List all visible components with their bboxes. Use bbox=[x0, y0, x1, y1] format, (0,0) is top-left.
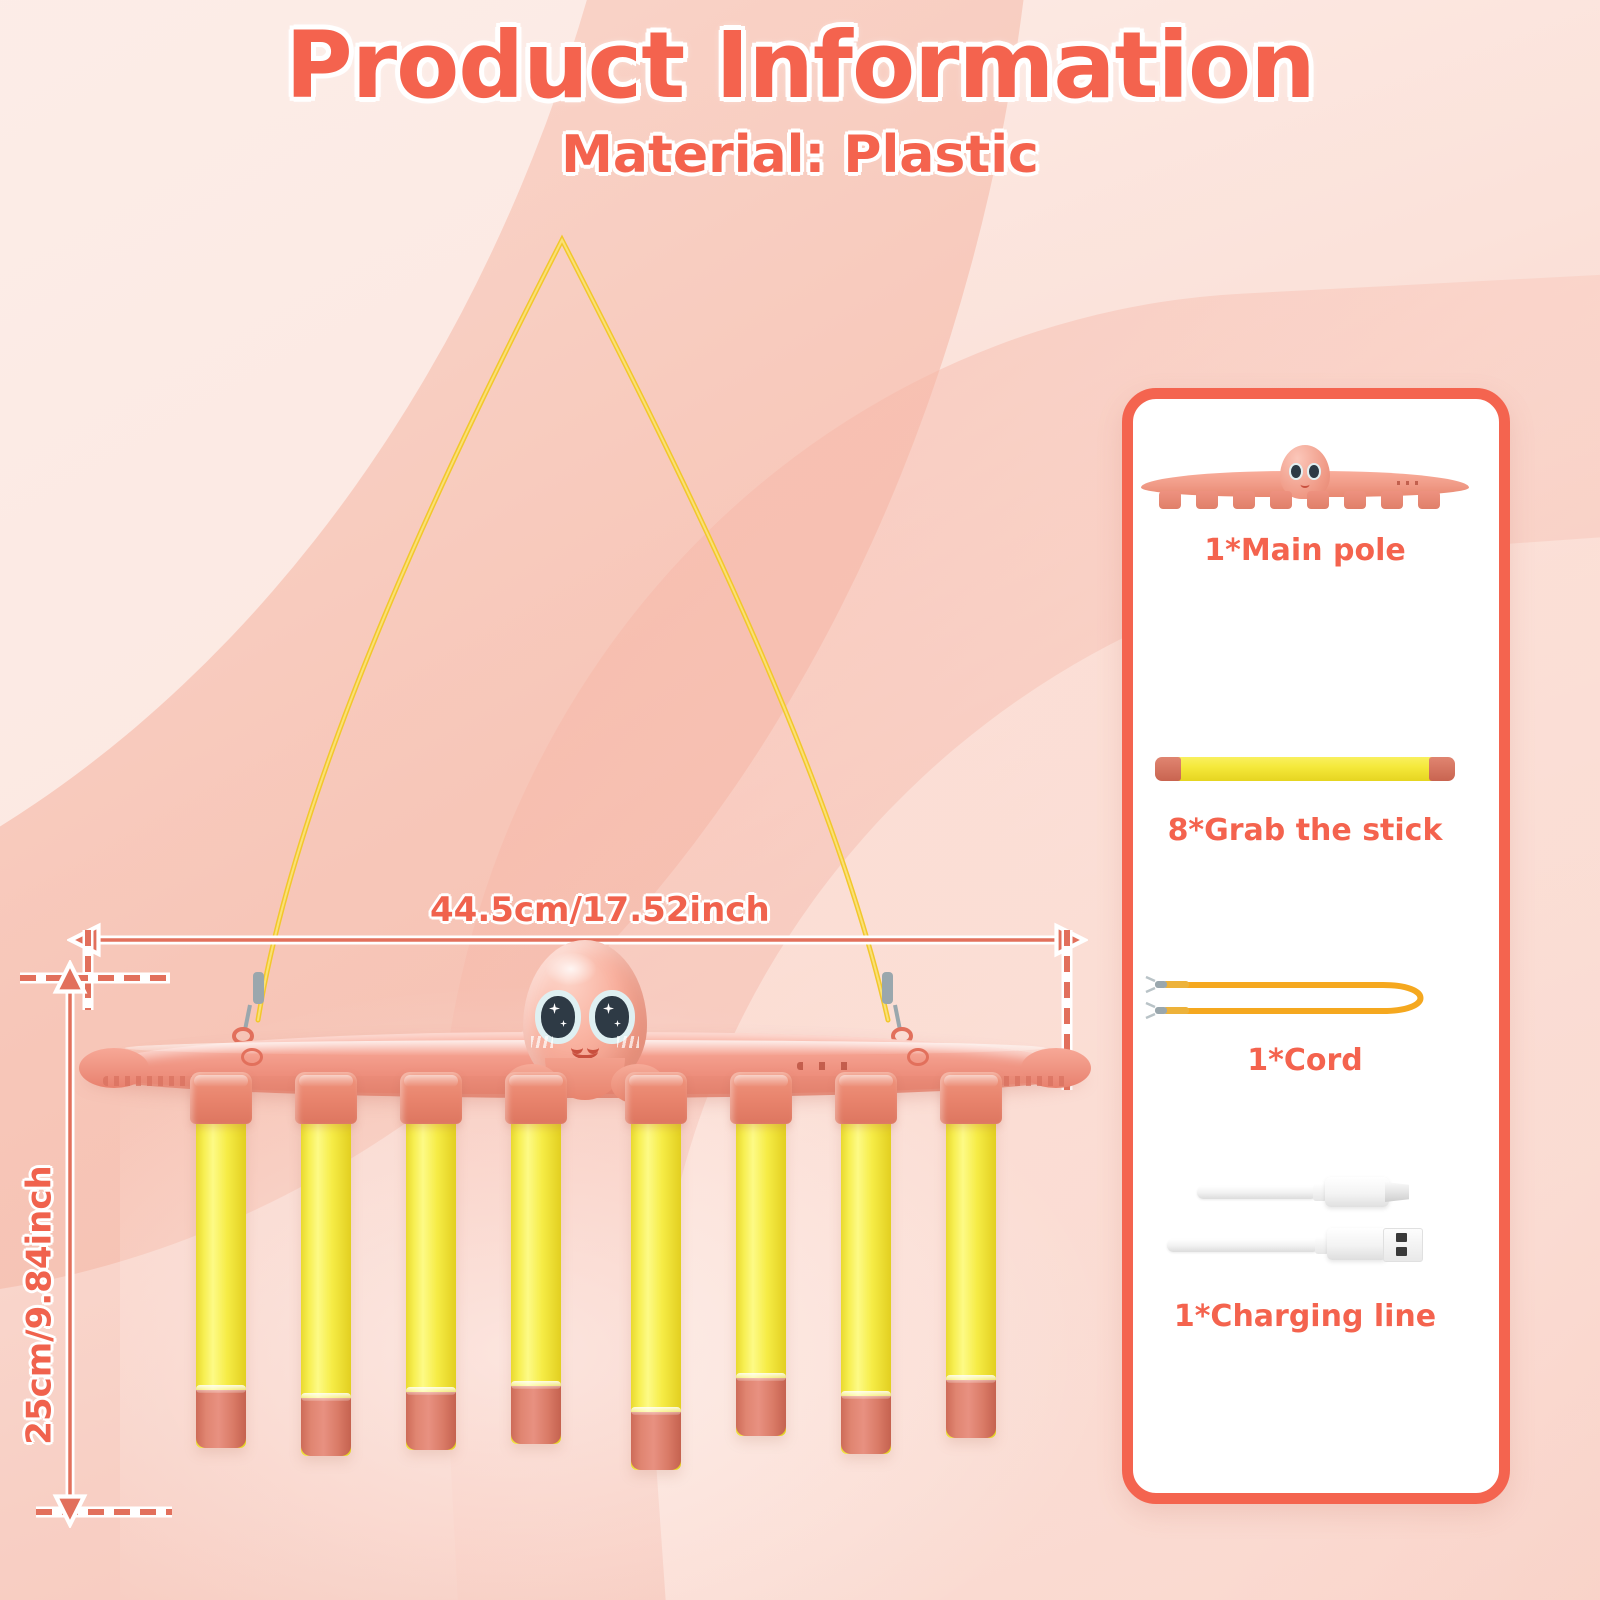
cord-ring-left bbox=[241, 1048, 263, 1066]
eye-left bbox=[541, 996, 575, 1038]
eye-right bbox=[595, 996, 629, 1038]
height-dimension-label: 25cm/9.84inch bbox=[20, 1165, 60, 1444]
head-gloss bbox=[545, 952, 597, 986]
mini-stick-socket bbox=[1344, 491, 1366, 509]
usb-a-row bbox=[1133, 1219, 1477, 1269]
mini-mouth-icon bbox=[1301, 481, 1310, 488]
eye-sparkle-small bbox=[560, 1020, 567, 1027]
product-infographic: Product Information Material: Plastic bbox=[0, 0, 1600, 1600]
grab-stick bbox=[196, 1118, 246, 1448]
mini-stick-cap-left bbox=[1155, 757, 1181, 781]
stick-end-cap bbox=[631, 1412, 681, 1470]
usb-cable-icon bbox=[1133, 1169, 1477, 1299]
grab-stick bbox=[946, 1118, 996, 1438]
mini-stick-socket bbox=[1159, 491, 1181, 509]
mini-eye-right bbox=[1309, 465, 1319, 478]
width-dimension-label: 44.5cm/17.52inch bbox=[430, 890, 770, 930]
mini-stick-body bbox=[1173, 757, 1437, 781]
stick-socket bbox=[400, 1072, 462, 1124]
grab-stick bbox=[406, 1118, 456, 1450]
stick-socket bbox=[940, 1072, 1002, 1124]
socket-highlight bbox=[629, 1075, 683, 1087]
grab-stick bbox=[511, 1118, 561, 1444]
micro-usb-tip bbox=[1385, 1182, 1409, 1202]
suckers-left bbox=[103, 1076, 199, 1086]
stick-end-cap bbox=[841, 1396, 891, 1454]
stick-socket bbox=[625, 1072, 687, 1124]
stick-end-cap bbox=[301, 1398, 351, 1456]
mouth-icon bbox=[572, 1044, 598, 1059]
cord-ring-right bbox=[907, 1048, 929, 1066]
stick-socket bbox=[505, 1072, 567, 1124]
socket-highlight bbox=[509, 1075, 563, 1087]
stick-socket bbox=[835, 1072, 897, 1124]
stick-socket bbox=[190, 1072, 252, 1124]
led-indicator-dots bbox=[797, 1062, 855, 1070]
part-label-charging-line: 1*Charging line bbox=[1133, 1299, 1477, 1334]
yellow-stick-icon bbox=[1133, 717, 1477, 813]
mini-led-dots bbox=[1397, 481, 1419, 485]
socket-highlight bbox=[944, 1075, 998, 1087]
mini-stick-socket bbox=[1196, 491, 1218, 509]
stick-end-cap bbox=[406, 1392, 456, 1450]
grab-stick bbox=[301, 1118, 351, 1456]
micro-usb-wire bbox=[1197, 1186, 1317, 1199]
stick-socket bbox=[730, 1072, 792, 1124]
usb-pin-top bbox=[1396, 1233, 1407, 1242]
usb-a-plug bbox=[1327, 1228, 1387, 1260]
parts-list-panel: 1*Main pole 8*Grab the stick bbox=[1122, 388, 1510, 1504]
grab-stick bbox=[736, 1118, 786, 1436]
octopus-bar-icon bbox=[1133, 437, 1477, 533]
socket-highlight bbox=[299, 1075, 353, 1087]
part-item-charging-line: 1*Charging line bbox=[1133, 1169, 1477, 1334]
usb-a-metal-shell bbox=[1383, 1228, 1423, 1262]
part-item-cord: 1*Cord bbox=[1133, 947, 1477, 1078]
stick-end-cap bbox=[736, 1378, 786, 1436]
socket-highlight bbox=[734, 1075, 788, 1087]
blush-right bbox=[617, 1036, 639, 1048]
eye-sparkle-large bbox=[549, 1003, 560, 1014]
usb-a-wire bbox=[1167, 1239, 1319, 1252]
part-item-main-pole: 1*Main pole bbox=[1133, 437, 1477, 568]
mini-stick-socket bbox=[1270, 491, 1292, 509]
blush-left bbox=[531, 1036, 553, 1048]
part-label-cord: 1*Cord bbox=[1133, 1043, 1477, 1078]
mini-stick-socket bbox=[1233, 491, 1255, 509]
part-item-grab-stick: 8*Grab the stick bbox=[1133, 717, 1477, 848]
mini-eye-left bbox=[1291, 465, 1301, 478]
mini-stick-socket bbox=[1418, 491, 1440, 509]
stick-end-cap bbox=[196, 1390, 246, 1448]
part-label-grab-stick: 8*Grab the stick bbox=[1133, 813, 1477, 848]
usb-pin-bottom bbox=[1396, 1247, 1407, 1256]
socket-highlight bbox=[194, 1075, 248, 1087]
grab-stick bbox=[841, 1118, 891, 1454]
stick-end-cap bbox=[511, 1386, 561, 1444]
mini-stick-socket bbox=[1307, 491, 1329, 509]
socket-highlight bbox=[404, 1075, 458, 1087]
grab-stick bbox=[631, 1118, 681, 1470]
micro-usb-row bbox=[1133, 1169, 1477, 1219]
stick-end-cap bbox=[946, 1380, 996, 1438]
part-label-main-pole: 1*Main pole bbox=[1133, 533, 1477, 568]
mini-stick-socket bbox=[1381, 491, 1403, 509]
micro-usb-plug bbox=[1325, 1177, 1389, 1207]
eye-sparkle-small bbox=[614, 1020, 621, 1027]
stick-socket bbox=[295, 1072, 357, 1124]
lanyard-cord-icon bbox=[1133, 947, 1477, 1043]
eye-sparkle-large bbox=[603, 1003, 614, 1014]
socket-highlight bbox=[839, 1075, 893, 1087]
product-illustration bbox=[85, 1010, 1085, 1530]
mini-stick-cap-right bbox=[1429, 757, 1455, 781]
